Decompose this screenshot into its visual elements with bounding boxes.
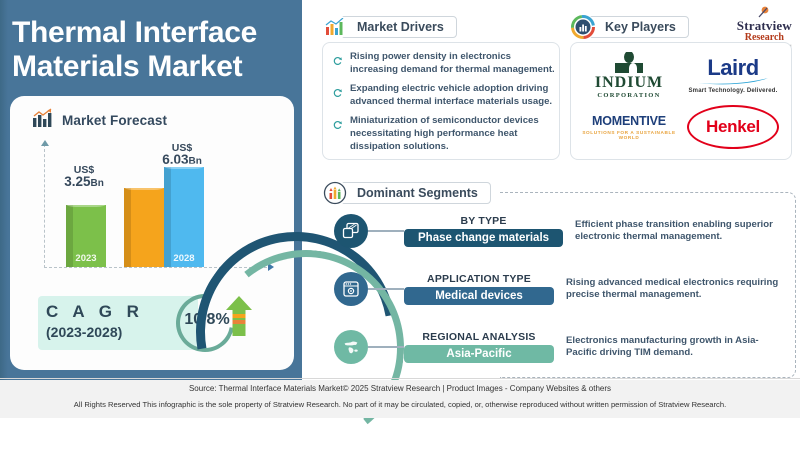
bar-top [164,163,204,169]
bar-year-2028: 2028 [164,253,204,264]
cagr-period: (2023-2028) [46,324,144,340]
segment-category: REGIONAL ANALYSIS [404,331,554,343]
connector-line [368,346,404,348]
footer-source: Source: Thermal Interface Materials Mark… [0,384,800,393]
segment-labels: REGIONAL ANALYSIS Asia-Pacific [404,331,554,363]
logo-name: Laird [688,57,777,79]
key-players-label: Key Players [588,16,689,38]
segment-regional-analysis: REGIONAL ANALYSIS Asia-Pacific Electroni… [334,330,784,364]
market-drivers-header: Market Drivers [322,14,457,40]
segment-value: Asia-Pacific [404,345,554,363]
segment-description: Rising advanced medical electronics requ… [566,277,784,302]
logo-indium: INDIUM CORPORATION [577,49,681,101]
globe-icon [334,330,368,364]
market-drivers-list: Rising power density in electronics incr… [333,51,557,160]
logo-henkel: Henkel [681,101,785,153]
refresh-bullet-icon [333,51,344,76]
bar-shade [124,188,131,267]
footer: Source: Thermal Interface Materials Mark… [0,380,800,418]
key-players-header: Key Players [570,14,689,40]
market-driver-text: Expanding electric vehicle adoption driv… [350,83,557,108]
key-players-card: INDIUM CORPORATION Laird Smart Technolog… [570,42,792,160]
market-drivers-label: Market Drivers [340,16,457,38]
market-drivers-card: Rising power density in electronics incr… [322,42,560,160]
dominant-segments-label: Dominant Segments [340,182,491,204]
bar-year-2023: 2023 [66,253,106,264]
market-driver-text: Rising power density in electronics incr… [350,51,557,76]
segment-labels: APPLICATION TYPE Medical devices [404,273,554,305]
logo-momentive: MOMENTIVE SOLUTIONS FOR A SUSTAINABLE WO… [577,101,681,153]
logo-sub: CORPORATION [595,92,663,99]
dominant-segments-header: Dominant Segments [322,180,491,206]
segment-category: APPLICATION TYPE [404,273,554,285]
segment-description: Efficient phase transition enabling supe… [575,219,793,244]
footer-rights: All Rights Reserved This infographic is … [0,400,800,409]
logo-sub: SOLUTIONS FOR A SUSTAINABLE WORLD [577,130,681,140]
connector-line [368,288,404,290]
segment-by-type: BY TYPE Phase change materials Efficient… [334,214,793,248]
footer-divider [0,378,800,379]
logo-sub: Smart Technology. Delivered. [688,88,777,94]
refresh-bullet-icon [333,83,344,108]
refresh-bullet-icon [333,115,344,153]
bar-top [124,184,164,190]
connector-line [368,230,404,232]
list-item: Expanding electric vehicle adoption driv… [333,83,557,108]
panel-edge-shade [0,0,8,380]
logo-name: Henkel [706,117,760,137]
bar-2028: 2028 [164,167,204,267]
logo-name: INDIUM [595,75,663,91]
bar-shade [164,167,171,267]
list-item: Rising power density in electronics incr… [333,51,557,76]
bar-label-2023: US$ 3.25Bn [42,164,126,190]
page-title: Thermal Interface Materials Market [12,16,294,84]
bar-chart-circle-icon [570,14,596,40]
segment-application-type: APPLICATION TYPE Medical devices Rising … [334,272,784,306]
bar-chart-icon [322,14,348,40]
cagr-label: C A G R [46,302,144,322]
market-forecast-header: Market Forecast [32,108,167,133]
logo-name: MOMENTIVE [577,114,681,128]
cagr-text: C A G R (2023-2028) [46,302,144,340]
chart-y-axis [44,144,45,268]
bar-top [66,201,106,207]
segment-value: Medical devices [404,287,554,305]
market-forecast-label: Market Forecast [62,113,167,128]
bar-chart-icon [32,108,54,133]
bar-middle [124,188,164,267]
y-axis-arrow-icon [41,140,49,146]
logo-laird: Laird Smart Technology. Delivered. [681,49,785,101]
bar-chart-circle-icon [322,180,348,206]
segment-description: Electronics manufacturing growth in Asia… [566,335,784,360]
device-settings-icon [334,272,368,306]
segment-labels: BY TYPE Phase change materials [404,215,563,247]
layers-icon [334,214,368,248]
segment-value: Phase change materials [404,229,563,247]
segment-category: BY TYPE [404,215,563,227]
market-driver-text: Miniaturization of semiconductor devices… [350,115,557,153]
bar-2023: 2023 [66,205,106,267]
list-item: Miniaturization of semiconductor devices… [333,115,557,153]
infographic-page: Thermal Interface Materials Market Marke… [0,0,800,418]
key-players-grid: INDIUM CORPORATION Laird Smart Technolog… [577,49,785,153]
